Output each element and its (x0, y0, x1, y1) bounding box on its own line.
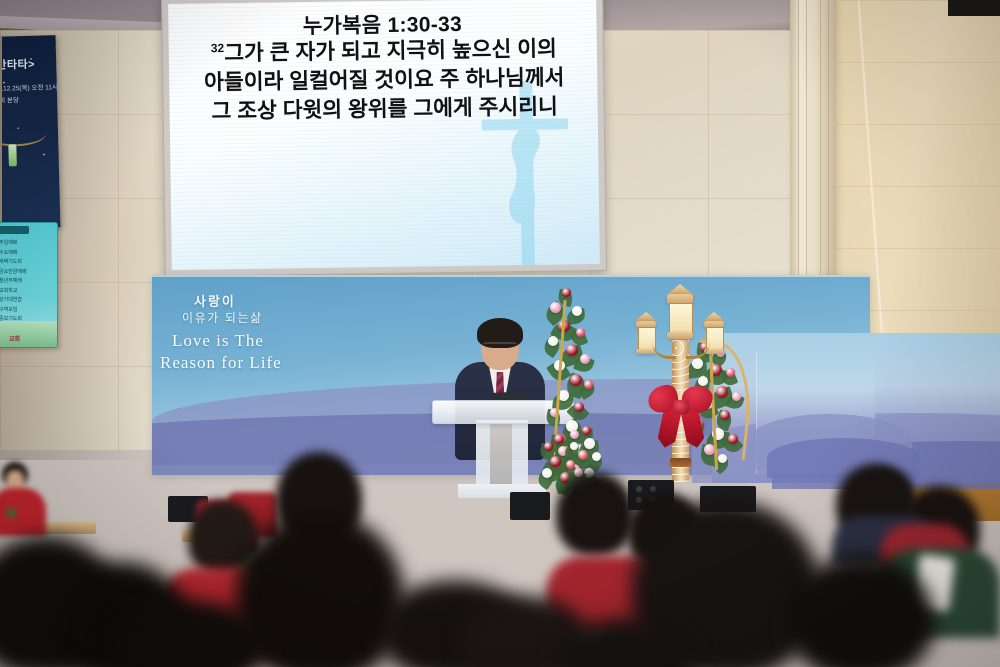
banner-korean-line-2: 이유가 되는삶 (182, 309, 263, 326)
flower (542, 468, 552, 478)
flower (576, 328, 585, 337)
flower (566, 460, 575, 469)
notice-board-list: 주일예배수요예배새벽기도회금요찬양예배청년부예배교회학교성가대연습구역모임중보기… (0, 239, 55, 334)
flower (584, 380, 593, 389)
flower (580, 354, 590, 364)
flower (566, 344, 578, 356)
notice-item: 청년부예배 (0, 277, 55, 287)
christmas-cantata-poster: 칸타타> 2025.12.25(목) 오전 11시 교회 본당 (0, 35, 61, 229)
church-sanctuary-photo: 칸타타> 2025.12.25(목) 오전 11시 교회 본당 주일예배수요예배… (0, 0, 1000, 667)
seated-woman-red (0, 462, 54, 536)
notice-board: 주일예배수요예배새벽기도회금요찬양예배청년부예배교회학교성가대연습구역모임중보기… (0, 222, 58, 348)
church-logo-text: 교회 (9, 334, 20, 343)
slide-line-2: 아들이라 일컬어질 것이요 주 하나님께서 (204, 65, 564, 94)
congregant-head (556, 472, 634, 556)
flower (592, 452, 601, 461)
flower (572, 306, 582, 316)
lantern-arm-left (652, 334, 676, 359)
notice-item: 수요예배 (0, 249, 55, 259)
ceiling-speaker (948, 0, 1000, 16)
projection-screen: 누가복음 1:30-33 32그가 큰 자가 되고 지극히 높으신 이의 아들이… (168, 0, 600, 270)
projection-screen-frame: 누가복음 1:30-33 32그가 큰 자가 되고 지극히 높으신 이의 아들이… (161, 0, 607, 277)
lamp-post (632, 282, 728, 482)
poster-place: 교회 본당 (0, 94, 19, 105)
banner-korean-line-1: 사랑이 (194, 291, 236, 310)
slide-body: 32그가 큰 자가 되고 지극히 높으신 이의 아들이라 일컬어질 것이요 주 … (179, 34, 590, 127)
notice-item: 새벽기도회 (0, 258, 55, 268)
flower (570, 442, 578, 450)
red-bow (650, 382, 712, 440)
mural-side-panel (756, 352, 875, 474)
flower (570, 430, 579, 439)
lamp-post-band (670, 458, 691, 467)
poster-candle (8, 144, 17, 166)
notice-item: 주일예배 (0, 239, 55, 249)
music-stand-left (510, 492, 550, 520)
flower (550, 302, 561, 313)
flower (544, 442, 553, 451)
notice-item: 성가대연습 (0, 296, 55, 306)
lantern-glass-center (669, 303, 693, 335)
flower (548, 336, 558, 346)
poster-title-fragment: 칸타타> (0, 56, 35, 73)
notice-item: 구역모임 (0, 306, 55, 316)
glasses-icon (483, 342, 517, 352)
notice-item: 교회학교 (0, 287, 55, 297)
verse-number: 32 (211, 41, 225, 55)
flower (562, 288, 571, 297)
poster-frame-edge (0, 36, 2, 232)
banner-english-line-2: Reason for Life (160, 353, 282, 373)
notice-item: 금요찬양예배 (0, 268, 55, 278)
notice-board-heading-chip (0, 226, 29, 234)
slide-line-3: 그 조상 다윗의 왕위를 그에게 주시리니 (211, 95, 558, 124)
slide-line-1: 그가 큰 자가 되고 지극히 높으신 이의 (224, 37, 557, 66)
poster-date: 2025.12.25(목) 오전 11시 (0, 81, 58, 93)
flower (574, 402, 584, 412)
banner-english-line-1: Love is The (172, 331, 264, 351)
flower (570, 374, 582, 386)
